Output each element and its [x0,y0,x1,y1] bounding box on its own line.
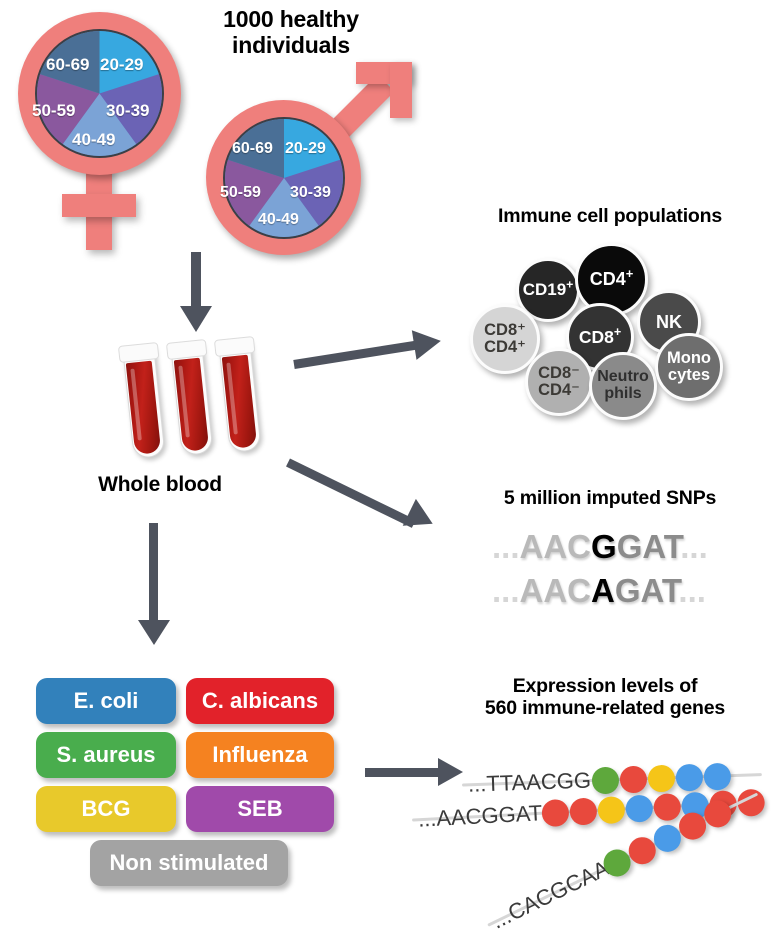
figure-canvas: 1000 healthy individuals 20-29 30-39 40-… [0,0,771,922]
immune-cell-label: CD8+ [579,328,621,346]
immune-cell-label: Monocytes [667,350,711,384]
rna-bead [625,794,653,822]
rna-bead [569,797,597,825]
rna-bead [703,763,731,791]
rna-strand-group: ...TTAACGG ...AACGGAT ...CACGCAA [0,0,771,922]
rna-bead [619,766,647,794]
immune-cell-label: Neutrophils [597,369,649,402]
immune-cell-label: CD19+ [523,281,574,299]
rna-bead [592,767,620,795]
rna-bead [541,799,569,827]
immune-cell-cd8-negative-cd4-negative: CD8⁻CD4⁻ [525,348,593,416]
rna-sequence-label: ...CACGCAA [488,855,614,934]
rna-bead [675,764,703,792]
immune-cell-label: CD8⁻CD4⁻ [538,365,580,399]
rna-sequence-label: ...AACGGAT [417,800,542,832]
immune-cell-label: NK [656,313,682,332]
rna-sequence-label: ...TTAACGG [468,768,592,798]
immune-cell-label: CD8⁺CD4⁺ [484,322,526,356]
rna-bead [597,796,625,824]
immune-cell-monocytes: Monocytes [655,333,723,401]
immune-cell-label: CD4+ [590,270,634,289]
rna-bead [647,765,675,793]
immune-cell-neutrophils: Neutrophils [589,352,657,420]
